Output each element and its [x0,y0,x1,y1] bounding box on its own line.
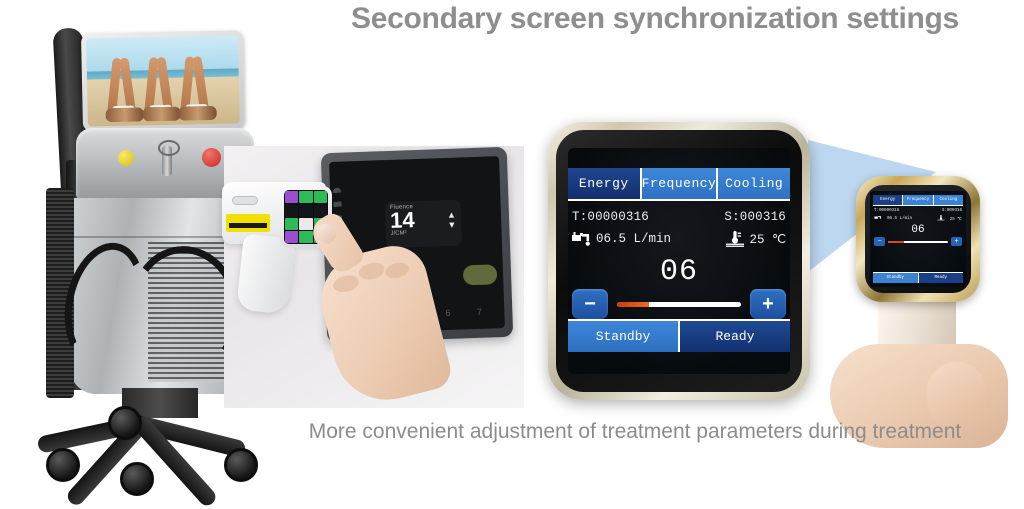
fingernail [313,220,338,246]
fluence-stepper: ▲ ▼ [447,210,457,230]
stepper-down-icon: ▼ [447,220,456,230]
total-shot-counter: T:00000316 [572,210,649,224]
flow-rate-value: 06.5 L/min [596,232,671,246]
mini-temp-value: 25 ℃ [950,216,962,222]
mini-shot-counter-row: T:00000316 S:000316 [873,209,963,213]
page-title: Secondary screen synchronization setting… [300,2,1010,36]
flow-temp-row: 06.5 L/min 25 ℃ [568,231,790,247]
mini-temp-cell: 25 ℃ [937,215,962,223]
temperature-cell: 25 ℃ [726,231,786,247]
mini-flow-value: 06.5 L/min [887,217,912,221]
minus-icon: − [584,295,596,313]
machine-display-frame [81,30,245,131]
indicator-yellow-icon [118,150,134,166]
mini-water-thermometer-icon [937,215,945,223]
key-switch-icon [162,146,172,176]
mini-ready-label: Ready [934,276,947,280]
tab-energy-label: Energy [579,176,629,191]
mini-tab-frequency[interactable]: Frequency [902,195,932,205]
parameter-tabs: Energy Frequency Cooling [568,168,790,201]
mini-parameter-value: 06 [873,225,963,236]
parameter-adjust-row: − + [568,289,790,319]
mini-standby-button[interactable]: Standby [873,273,918,283]
tab-frequency-label: Frequency [642,176,717,191]
water-thermometer-icon [726,231,744,247]
mini-slider[interactable] [888,241,948,243]
session-shot-counter: S:000316 [724,210,786,224]
mini-tab-energy-label: Energy [880,198,895,202]
tab-cooling[interactable]: Cooling [716,168,790,199]
stepper-up-icon: ▲ [447,210,456,220]
mode-buttons: Standby Ready [568,319,790,352]
mini-standby-label: Standby [886,276,904,280]
flow-rate-cell: 06.5 L/min [572,231,671,247]
shot-counter-row: T:00000316 S:000316 [568,210,790,224]
caster-base [46,410,262,464]
caster-wheel [224,448,258,482]
laser-aperture-label [226,214,270,232]
standby-button[interactable]: Standby [568,321,678,352]
ready-button[interactable]: Ready [678,321,790,352]
plus-icon: + [762,295,774,313]
ready-label: Ready [715,329,754,344]
caster-wheel [46,448,80,482]
faucet-icon [572,231,591,247]
mini-total-shot-counter: T:00000316 [874,209,899,213]
mini-minus-icon: − [877,238,881,245]
handpiece-port-icon [232,196,258,205]
emergency-stop-icon [202,148,221,167]
caster-wheel [120,462,154,496]
machine-display-screen [86,35,240,126]
temperature-value: 25 ℃ [749,231,786,247]
mini-tab-frequency-label: Frequency [907,198,930,202]
mini-slider-fill [888,241,904,243]
tab-cooling-label: Cooling [725,176,783,191]
tab-energy[interactable]: Energy [568,168,640,199]
mini-tab-energy[interactable]: Energy [873,195,902,205]
slider-fill [617,302,649,307]
mini-flow-temp-row: 06.5 L/min 25 ℃ [873,215,963,223]
parameter-value-area: 06 [568,257,790,287]
secondary-screen-panel: Energy Frequency Cooling T:00000316 S:00… [548,122,810,400]
handheld-secondary-screen-photo: Energy Frequency Cooling T:00000316 S:00… [856,176,982,426]
parameter-slider[interactable] [617,302,741,307]
increase-button[interactable]: + [750,289,786,319]
mini-increase-button[interactable]: + [951,237,962,246]
parameter-value: 06 [568,257,790,287]
mini-decrease-button[interactable]: − [874,237,885,246]
caption-text: More convenient adjustment of treatment … [290,420,980,444]
panel-screen: Energy Frequency Cooling T:00000316 S:00… [568,148,790,374]
tab-frequency[interactable]: Frequency [640,168,717,199]
mini-parameter-tabs: Energy Frequency Cooling [873,195,963,206]
mini-tab-cooling-label: Cooling [940,198,958,202]
panel-bezel: Energy Frequency Cooling T:00000316 S:00… [556,130,802,392]
operator-hand [320,214,440,404]
beach-models [86,48,239,123]
mini-tab-cooling[interactable]: Cooling [933,195,963,205]
caster-wheel [108,406,142,440]
handpiece-gold-bezel: Energy Frequency Cooling T:00000316 S:00… [856,176,980,302]
mini-adjust-row: − + [873,237,963,246]
decrease-button[interactable]: − [572,289,608,319]
mini-flow-cell: 06.5 L/min [874,215,912,223]
handpiece-mini-screen: Energy Frequency Cooling T:00000316 S:00… [870,191,966,287]
mini-plus-icon: + [954,238,958,245]
mini-session-shot-counter: S:000316 [942,209,962,213]
mini-faucet-icon [874,215,882,223]
tablet-status-pill [463,264,498,285]
handpiece-inner-bezel: Energy Frequency Cooling T:00000316 S:00… [865,185,971,293]
standby-label: Standby [596,329,651,344]
mini-ready-button[interactable]: Ready [918,273,964,283]
treatment-usage-photo: Fluence 14 J/CM² ▲ ▼ ❯ 4 5 6 7 [224,146,524,408]
mini-mode-buttons: Standby Ready [873,272,963,283]
